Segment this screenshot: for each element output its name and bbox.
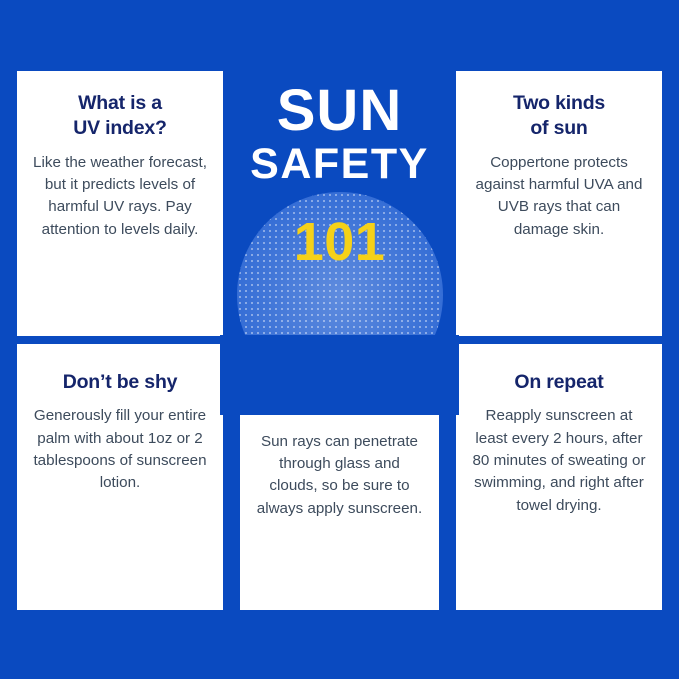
hero-block: SUN SAFETY 101 bbox=[240, 71, 439, 336]
card-body: Like the weather forecast, but it predic… bbox=[31, 152, 209, 241]
sun-safety-infographic: What is aUV index? Like the weather fore… bbox=[0, 0, 679, 679]
card-title: Two kindsof sun bbox=[470, 91, 648, 142]
card-body: Generously fill your entire palm with ab… bbox=[31, 405, 209, 494]
card-dont-be-shy: Don’t be shy Generously fill your entire… bbox=[17, 344, 223, 610]
card-title: What is aUV index? bbox=[31, 91, 209, 142]
hero-text: SUN SAFETY 101 bbox=[250, 71, 429, 269]
sun-bottom-mask bbox=[220, 335, 459, 415]
hero-line-sun: SUN bbox=[277, 83, 402, 140]
card-uv-index: What is aUV index? Like the weather fore… bbox=[17, 71, 223, 336]
hero-number-101: 101 bbox=[294, 215, 386, 269]
card-grid: What is aUV index? Like the weather fore… bbox=[17, 71, 662, 610]
card-title: Don’t be shy bbox=[31, 370, 209, 395]
card-on-repeat: On repeat Reapply sunscreen at least eve… bbox=[456, 344, 662, 610]
card-two-kinds-of-sun: Two kindsof sun Coppertone protects agai… bbox=[456, 71, 662, 336]
card-title: On repeat bbox=[470, 370, 648, 395]
card-body: Coppertone protects against harmful UVA … bbox=[470, 152, 648, 241]
card-body: Sun rays can penetrate through glass and… bbox=[254, 431, 425, 520]
card-body: Reapply sunscreen at least every 2 hours… bbox=[470, 405, 648, 517]
hero-line-safety: SAFETY bbox=[250, 142, 429, 187]
